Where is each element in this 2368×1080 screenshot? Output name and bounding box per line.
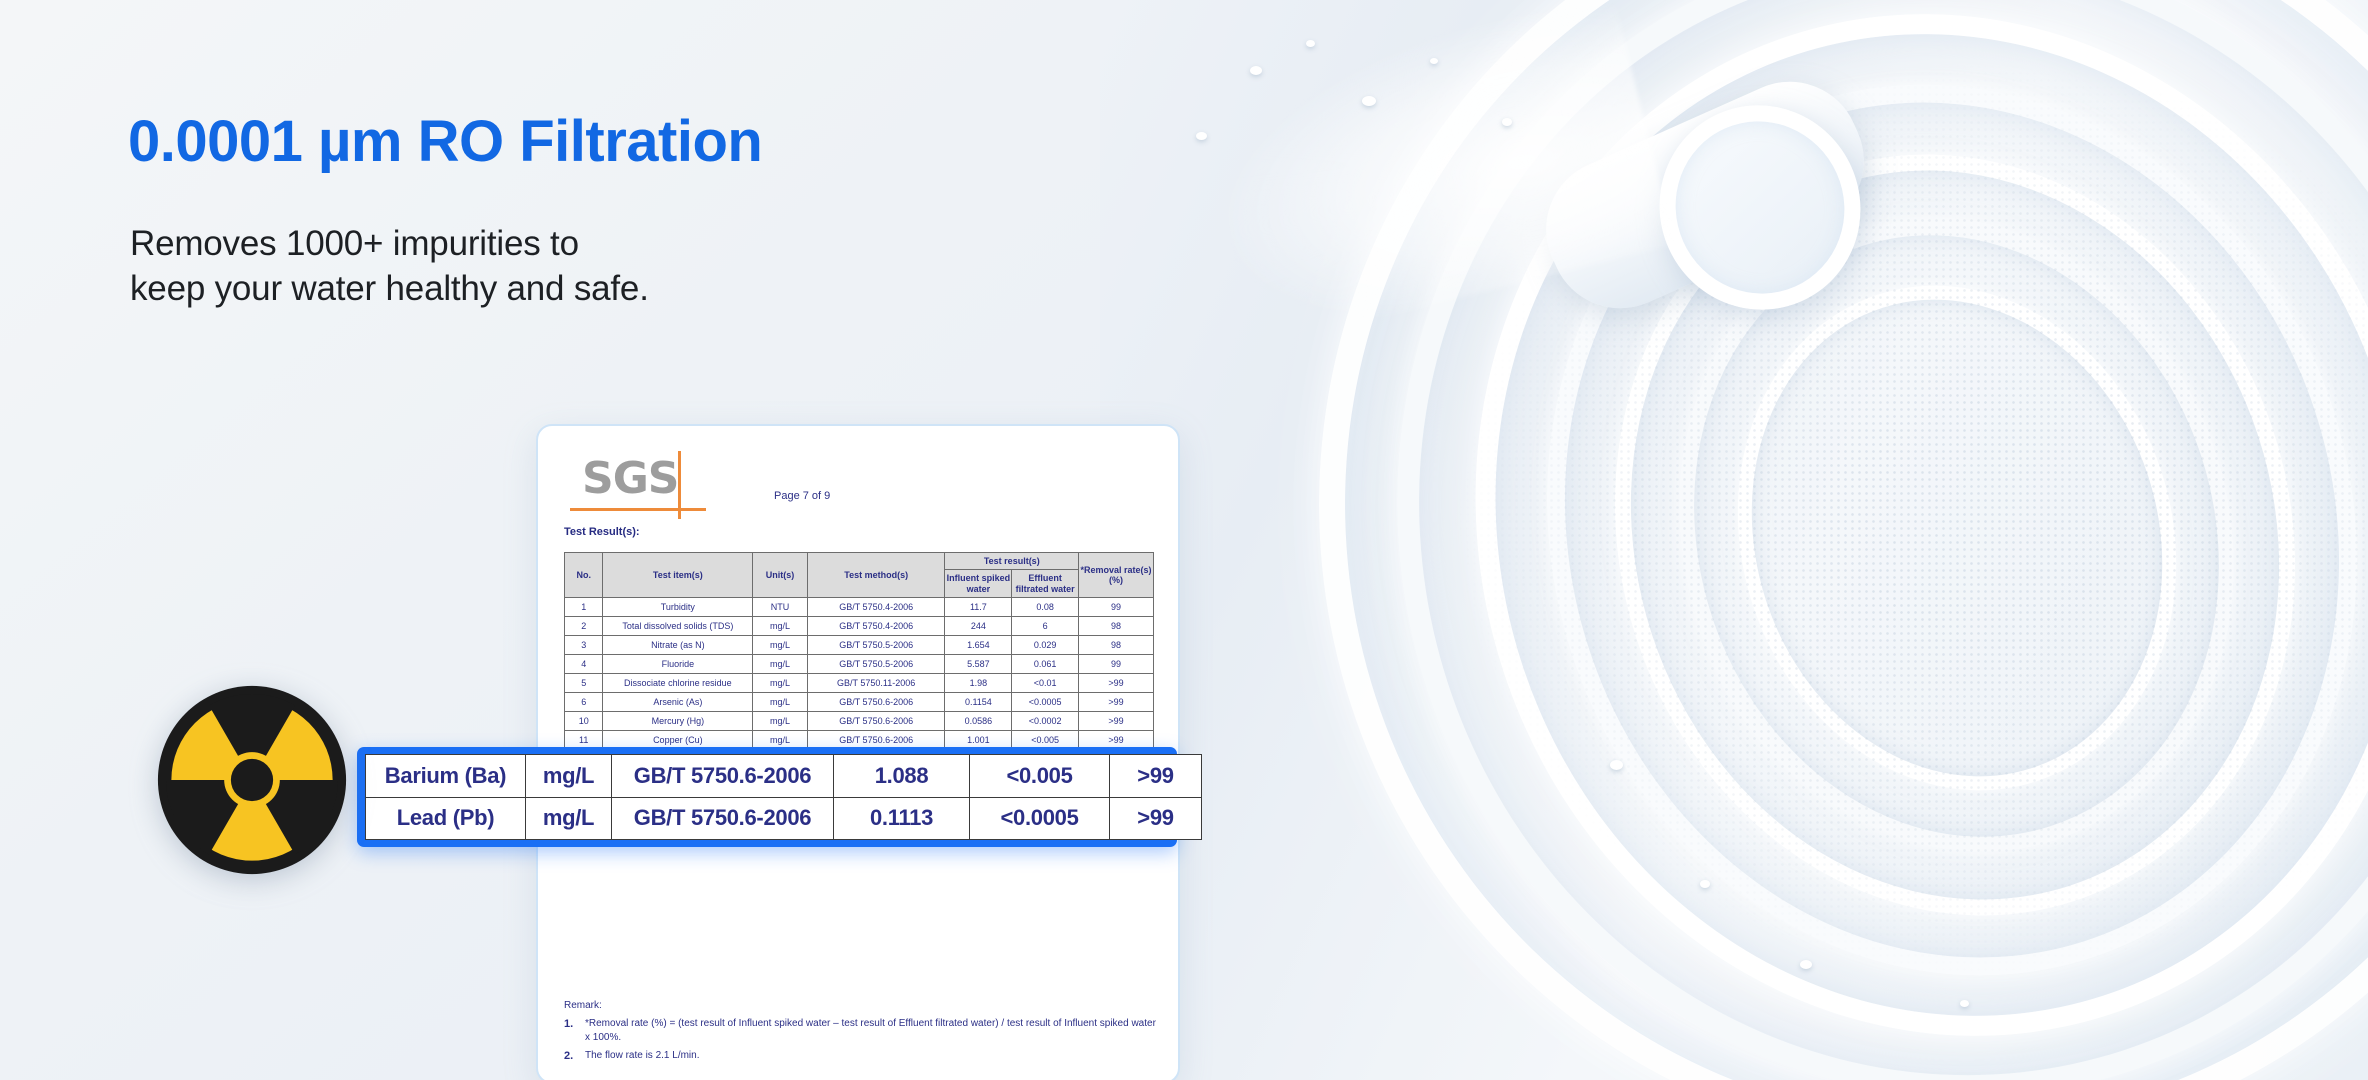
cell-method: GB/T 5750.5-2006 [807, 655, 945, 674]
cell-no: 1 [565, 598, 603, 617]
col-header-removal-rate: *Removal rate(s) (%) [1079, 553, 1154, 598]
cell-no: 3 [565, 636, 603, 655]
cell-removal: >99 [1079, 693, 1154, 712]
table-row: 4Fluoridemg/LGB/T 5750.5-20065.5870.0619… [565, 655, 1154, 674]
cell-unit: mg/L [753, 693, 808, 712]
cell-removal: >99 [1079, 674, 1154, 693]
cell-effluent: <0.0002 [1012, 712, 1079, 731]
sgs-logo-vertical-rule [678, 451, 681, 519]
cell-item: Dissociate chlorine residue [603, 674, 753, 693]
highlighted-cell-unit: mg/L [526, 797, 612, 840]
cell-effluent: 6 [1012, 617, 1079, 636]
table-header: No. Test item(s) Unit(s) Test method(s) … [565, 553, 1154, 598]
highlighted-cell-item: Barium (Ba) [366, 755, 526, 798]
remark-item-number: 2. [564, 1049, 577, 1064]
table-row: 3Nitrate (as N)mg/LGB/T 5750.5-20061.654… [565, 636, 1154, 655]
cell-unit: mg/L [753, 655, 808, 674]
cell-influent: 0.1154 [945, 693, 1012, 712]
cell-influent: 11.7 [945, 598, 1012, 617]
highlighted-rows-callout: Barium (Ba)mg/LGB/T 5750.6-20061.088<0.0… [357, 747, 1177, 847]
cell-unit: NTU [753, 598, 808, 617]
table-body-top: 1TurbidityNTUGB/T 5750.4-200611.70.08992… [565, 598, 1154, 693]
highlighted-table-row: Lead (Pb)mg/LGB/T 5750.6-20060.1113<0.00… [366, 797, 1202, 840]
page-subtitle: Removes 1000+ impurities to keep your wa… [130, 222, 649, 312]
remark-item-text: *Removal rate (%) = (test result of Infl… [585, 1017, 1156, 1044]
page-title: 0.0001 µm RO Filtration [128, 108, 762, 175]
highlighted-cell-effluent: <0.0005 [970, 797, 1110, 840]
water-droplets [1100, 0, 2368, 1080]
cell-effluent: 0.029 [1012, 636, 1079, 655]
highlighted-cell-method: GB/T 5750.6-2006 [612, 755, 834, 798]
cell-influent: 1.98 [945, 674, 1012, 693]
cell-influent: 244 [945, 617, 1012, 636]
cell-item: Arsenic (As) [603, 693, 753, 712]
cell-item: Mercury (Hg) [603, 712, 753, 731]
cell-no: 4 [565, 655, 603, 674]
cell-no: 6 [565, 693, 603, 712]
highlighted-cell-removal: >99 [1110, 755, 1202, 798]
cell-method: GB/T 5750.11-2006 [807, 674, 945, 693]
highlighted-cell-influent: 1.088 [834, 755, 970, 798]
cell-removal: 98 [1079, 636, 1154, 655]
sgs-logo: SGS [582, 456, 714, 518]
col-header-unit: Unit(s) [753, 553, 808, 598]
sgs-logo-horizontal-rule [570, 508, 706, 511]
cell-method: GB/T 5750.4-2006 [807, 617, 945, 636]
cell-method: GB/T 5750.6-2006 [807, 693, 945, 712]
cell-unit: mg/L [753, 617, 808, 636]
col-header-test-result-group: Test result(s) [945, 553, 1079, 570]
cell-no: 2 [565, 617, 603, 636]
cell-effluent: <0.0005 [1012, 693, 1079, 712]
highlighted-table-row: Barium (Ba)mg/LGB/T 5750.6-20061.088<0.0… [366, 755, 1202, 798]
table-row: 5Dissociate chlorine residuemg/LGB/T 575… [565, 674, 1154, 693]
cell-influent: 1.654 [945, 636, 1012, 655]
remark-item: 1.*Removal rate (%) = (test result of In… [564, 1017, 1156, 1044]
highlighted-cell-influent: 0.1113 [834, 797, 970, 840]
cell-effluent: <0.01 [1012, 674, 1079, 693]
remark-item-text: The flow rate is 2.1 L/min. [585, 1049, 700, 1064]
subtitle-line-1: Removes 1000+ impurities to [130, 222, 649, 267]
cell-no: 10 [565, 712, 603, 731]
highlighted-cell-method: GB/T 5750.6-2006 [612, 797, 834, 840]
col-header-method: Test method(s) [807, 553, 945, 598]
cell-unit: mg/L [753, 674, 808, 693]
remark-item-number: 1. [564, 1017, 577, 1044]
col-header-effluent: Effluent filtrated water [1012, 570, 1079, 598]
table-body-obscured: 6Arsenic (As)mg/LGB/T 5750.6-20060.1154<… [565, 693, 1154, 731]
highlighted-cell-effluent: <0.005 [970, 755, 1110, 798]
cell-effluent: 0.08 [1012, 598, 1079, 617]
cell-removal: 98 [1079, 617, 1154, 636]
cell-unit: mg/L [753, 712, 808, 731]
table-row: 2Total dissolved solids (TDS)mg/LGB/T 57… [565, 617, 1154, 636]
subtitle-line-2: keep your water healthy and safe. [130, 267, 649, 312]
cell-unit: mg/L [753, 636, 808, 655]
table-row: 6Arsenic (As)mg/LGB/T 5750.6-20060.1154<… [565, 693, 1154, 712]
sgs-logo-text: SGS [582, 456, 714, 502]
remark-items: 1.*Removal rate (%) = (test result of In… [564, 1017, 1156, 1064]
cell-influent: 5.587 [945, 655, 1012, 674]
col-header-influent: Influent spiked water [945, 570, 1012, 598]
cell-item: Fluoride [603, 655, 753, 674]
table-row: 1TurbidityNTUGB/T 5750.4-200611.70.0899 [565, 598, 1154, 617]
cell-no: 5 [565, 674, 603, 693]
cell-method: GB/T 5750.4-2006 [807, 598, 945, 617]
cell-removal: 99 [1079, 655, 1154, 674]
cell-method: GB/T 5750.5-2006 [807, 636, 945, 655]
highlighted-rows-table: Barium (Ba)mg/LGB/T 5750.6-20061.088<0.0… [365, 754, 1202, 840]
page-number-label: Page 7 of 9 [774, 490, 830, 502]
cell-item: Nitrate (as N) [603, 636, 753, 655]
cell-item: Total dissolved solids (TDS) [603, 617, 753, 636]
test-results-heading: Test Result(s): [564, 526, 640, 538]
cell-influent: 0.0586 [945, 712, 1012, 731]
cell-method: GB/T 5750.6-2006 [807, 712, 945, 731]
table-row: 10Mercury (Hg)mg/LGB/T 5750.6-20060.0586… [565, 712, 1154, 731]
col-header-no: No. [565, 553, 603, 598]
highlighted-cell-item: Lead (Pb) [366, 797, 526, 840]
cell-item: Turbidity [603, 598, 753, 617]
cell-removal: 99 [1079, 598, 1154, 617]
remark-item: 2.The flow rate is 2.1 L/min. [564, 1049, 1156, 1064]
remark-section: Remark: 1.*Removal rate (%) = (test resu… [564, 1000, 1156, 1069]
ro-membrane-photo [1100, 0, 2368, 1080]
radiation-trefoil-icon [156, 684, 348, 876]
cell-effluent: 0.061 [1012, 655, 1079, 674]
highlighted-cell-unit: mg/L [526, 755, 612, 798]
col-header-item: Test item(s) [603, 553, 753, 598]
cell-removal: >99 [1079, 712, 1154, 731]
highlighted-cell-removal: >99 [1110, 797, 1202, 840]
remark-heading: Remark: [564, 1000, 1156, 1011]
